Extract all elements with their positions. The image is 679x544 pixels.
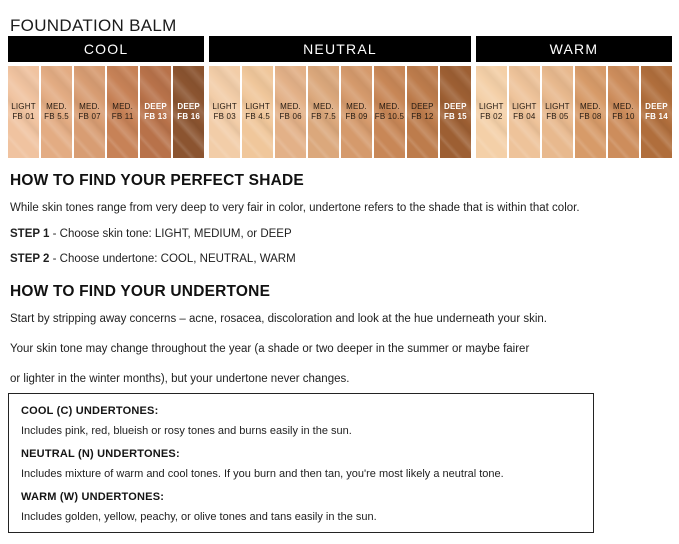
definition-block: COOL (C) UNDERTONES:Includes pink, red, …: [21, 405, 581, 438]
swatch-code: FB 06: [279, 112, 301, 122]
swatch-label: LIGHTFB 03: [212, 102, 237, 122]
group-header-warm: WARM: [476, 36, 672, 62]
swatch-tone: LIGHT: [479, 102, 504, 112]
swatch-tone: MED.: [579, 102, 601, 112]
swatch-label: DEEPFB 13: [144, 102, 167, 122]
step-2-line: STEP 2 - Choose undertone: COOL, NEUTRAL…: [10, 251, 670, 267]
swatch-label: MED.FB 7.5: [311, 102, 336, 122]
swatch-tone: DEEP: [645, 102, 668, 112]
swatch-label: LIGHTFB 02: [479, 102, 504, 122]
swatch-row: LIGHTFB 03LIGHTFB 4.5MED.FB 06MED.FB 7.5…: [209, 62, 471, 158]
shade-swatch-fb-15[interactable]: DEEPFB 15: [440, 66, 471, 158]
undertone-group-warm: WARMLIGHTFB 02LIGHTFB 04LIGHTFB 05MED.FB…: [476, 36, 672, 158]
step-1-label: STEP 1: [10, 228, 49, 240]
swatch-code: FB 7.5: [311, 112, 336, 122]
swatch-label: MED.FB 10: [612, 102, 634, 122]
swatch-label: MED.FB 06: [279, 102, 301, 122]
swatch-tone: LIGHT: [245, 102, 270, 112]
swatch-code: FB 16: [177, 112, 200, 122]
group-header-neutral: NEUTRAL: [209, 36, 471, 62]
perfect-shade-section: HOW TO FIND YOUR PERFECT SHADE While ski…: [10, 172, 670, 276]
swatch-tone: MED.: [345, 102, 367, 112]
shade-swatch-fb-01[interactable]: LIGHTFB 01: [8, 66, 39, 158]
swatch-label: LIGHTFB 04: [512, 102, 537, 122]
shade-swatch-fb-16[interactable]: DEEPFB 16: [173, 66, 204, 158]
swatch-tone: DEEP: [177, 102, 200, 112]
shade-swatch-fb-11[interactable]: MED.FB 11: [107, 66, 138, 158]
step-2-label: STEP 2: [10, 253, 49, 265]
shade-swatch-fb-09[interactable]: MED.FB 09: [341, 66, 372, 158]
definition-block: WARM (W) UNDERTONES:Includes golden, yel…: [21, 491, 581, 524]
swatch-code: FB 09: [345, 112, 367, 122]
swatch-code: FB 4.5: [245, 112, 270, 122]
swatch-label: DEEPFB 14: [645, 102, 668, 122]
swatch-label: DEEPFB 16: [177, 102, 200, 122]
shade-swatch-fb-06[interactable]: MED.FB 06: [275, 66, 306, 158]
undertone-line-2: Your skin tone may change throughout the…: [10, 341, 670, 358]
shade-swatch-fb-08[interactable]: MED.FB 08: [575, 66, 606, 158]
definition-block: NEUTRAL (N) UNDERTONES:Includes mixture …: [21, 448, 581, 481]
swatch-code: FB 03: [212, 112, 237, 122]
definition-term: NEUTRAL (N) UNDERTONES:: [21, 448, 581, 460]
swatch-code: FB 05: [545, 112, 570, 122]
shade-swatch-fb-13[interactable]: DEEPFB 13: [140, 66, 171, 158]
shade-swatch-fb-14[interactable]: DEEPFB 14: [641, 66, 672, 158]
step-1-text: - Choose skin tone: LIGHT, MEDIUM, or DE…: [49, 228, 291, 240]
swatch-code: FB 04: [512, 112, 537, 122]
swatch-row: LIGHTFB 01MED.FB 5.5MED.FB 07MED.FB 11DE…: [8, 62, 204, 158]
shade-swatch-fb-04[interactable]: LIGHTFB 04: [509, 66, 540, 158]
swatch-code: FB 11: [112, 112, 134, 122]
swatch-code: FB 10: [612, 112, 634, 122]
swatch-row: LIGHTFB 02LIGHTFB 04LIGHTFB 05MED.FB 08M…: [476, 62, 672, 158]
swatch-code: FB 08: [579, 112, 601, 122]
swatch-tone: LIGHT: [512, 102, 537, 112]
shade-swatch-fb-05[interactable]: LIGHTFB 05: [542, 66, 573, 158]
swatch-tone: LIGHT: [545, 102, 570, 112]
shade-swatch-fb-03[interactable]: LIGHTFB 03: [209, 66, 240, 158]
swatch-code: FB 07: [78, 112, 100, 122]
shade-swatch-fb-5.5[interactable]: MED.FB 5.5: [41, 66, 72, 158]
definition-description: Includes golden, yellow, peachy, or oliv…: [21, 510, 581, 524]
shade-swatch-fb-02[interactable]: LIGHTFB 02: [476, 66, 507, 158]
step-2-text: - Choose undertone: COOL, NEUTRAL, WARM: [49, 253, 295, 265]
swatch-label: MED.FB 10.5: [375, 102, 404, 122]
undertone-line-3: or lighter in the winter months), but yo…: [10, 371, 670, 388]
swatch-label: MED.FB 11: [112, 102, 134, 122]
swatch-label: DEEPFB 15: [444, 102, 467, 122]
swatch-label: MED.FB 5.5: [44, 102, 69, 122]
swatch-tone: MED.: [78, 102, 100, 112]
step-1-line: STEP 1 - Choose skin tone: LIGHT, MEDIUM…: [10, 226, 670, 242]
swatch-label: DEEPFB 12: [411, 102, 434, 122]
shade-swatch-fb-07[interactable]: MED.FB 07: [74, 66, 105, 158]
swatch-tone: DEEP: [411, 102, 434, 112]
shade-swatch-fb-10.5[interactable]: MED.FB 10.5: [374, 66, 405, 158]
shade-swatch-fb-4.5[interactable]: LIGHTFB 4.5: [242, 66, 273, 158]
swatch-tone: MED.: [279, 102, 301, 112]
swatch-code: FB 02: [479, 112, 504, 122]
swatch-tone: MED.: [375, 102, 404, 112]
shade-swatch-fb-7.5[interactable]: MED.FB 7.5: [308, 66, 339, 158]
definition-description: Includes mixture of warm and cool tones.…: [21, 467, 581, 481]
group-header-cool: COOL: [8, 36, 204, 62]
undertone-definitions-box: COOL (C) UNDERTONES:Includes pink, red, …: [8, 393, 594, 533]
swatch-code: FB 15: [444, 112, 467, 122]
swatch-tone: MED.: [44, 102, 69, 112]
swatch-label: MED.FB 08: [579, 102, 601, 122]
swatch-code: FB 5.5: [44, 112, 69, 122]
swatch-tone: DEEP: [144, 102, 167, 112]
swatch-code: FB 12: [411, 112, 434, 122]
swatch-tone: MED.: [612, 102, 634, 112]
swatch-code: FB 13: [144, 112, 167, 122]
undertone-section: HOW TO FIND YOUR UNDERTONE Start by stri…: [10, 283, 670, 401]
undertone-line-1: Start by stripping away concerns – acne,…: [10, 311, 670, 328]
swatch-label: MED.FB 09: [345, 102, 367, 122]
shade-swatch-fb-10[interactable]: MED.FB 10: [608, 66, 639, 158]
perfect-shade-heading: HOW TO FIND YOUR PERFECT SHADE: [10, 172, 670, 190]
undertone-group-cool: COOLLIGHTFB 01MED.FB 5.5MED.FB 07MED.FB …: [8, 36, 204, 158]
swatch-label: LIGHTFB 4.5: [245, 102, 270, 122]
swatch-label: LIGHTFB 05: [545, 102, 570, 122]
perfect-shade-intro: While skin tones range from very deep to…: [10, 200, 670, 217]
definition-term: COOL (C) UNDERTONES:: [21, 405, 581, 417]
page-title: FOUNDATION BALM: [10, 16, 177, 36]
swatch-code: FB 10.5: [375, 112, 404, 122]
swatch-label: LIGHTFB 01: [11, 102, 36, 122]
swatch-label: MED.FB 07: [78, 102, 100, 122]
swatch-tone: MED.: [311, 102, 336, 112]
swatch-tone: LIGHT: [11, 102, 36, 112]
swatch-tone: MED.: [112, 102, 134, 112]
undertone-heading: HOW TO FIND YOUR UNDERTONE: [10, 283, 670, 301]
swatch-code: FB 14: [645, 112, 668, 122]
swatch-tone: LIGHT: [212, 102, 237, 112]
undertone-group-neutral: NEUTRALLIGHTFB 03LIGHTFB 4.5MED.FB 06MED…: [209, 36, 471, 158]
shade-chart: COOLLIGHTFB 01MED.FB 5.5MED.FB 07MED.FB …: [8, 36, 672, 158]
definition-term: WARM (W) UNDERTONES:: [21, 491, 581, 503]
shade-swatch-fb-12[interactable]: DEEPFB 12: [407, 66, 438, 158]
definition-description: Includes pink, red, blueish or rosy tone…: [21, 424, 581, 438]
swatch-tone: DEEP: [444, 102, 467, 112]
swatch-code: FB 01: [11, 112, 36, 122]
